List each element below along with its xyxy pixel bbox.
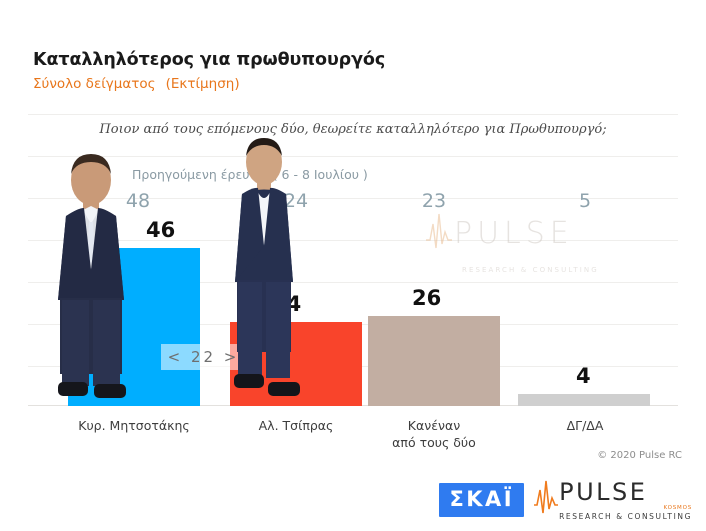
- poll-chart-card: Καταλληλότερος για πρωθυπουργός Σύνολο δ…: [0, 0, 706, 531]
- photo-mitsotakis: [36, 150, 146, 406]
- subtitle-sample: Σύνολο δείγματος: [33, 76, 156, 92]
- pulse-logo-text: PULSE: [559, 478, 647, 506]
- chart-subtitle: Σύνολο δείγματος(Εκτίμηση): [33, 76, 673, 92]
- pulse-tagline: RESEARCH & CONSULTING: [559, 513, 692, 521]
- bar-group-neither[interactable]: 26: [368, 316, 500, 406]
- skai-logo-text: ΣΚΑΪ: [449, 489, 514, 510]
- photo-tsipras: [214, 134, 314, 406]
- category-labels: Κυρ. Μητσοτάκης Αλ. Τσίπρας Κανέναν από …: [28, 418, 678, 458]
- bar-value-mitsotakis: 46: [146, 218, 175, 242]
- category-label-neither: Κανέναν από τους δύο: [392, 418, 476, 452]
- copyright-text: © 2020 Pulse RC: [597, 450, 682, 461]
- pulse-waveform-icon: [534, 478, 558, 522]
- page-title: Καταλληλότερος για πρωθυπουργός: [33, 50, 673, 71]
- skai-logo: ΣΚΑΪ: [439, 483, 524, 517]
- pulse-kosmos-text: KOSMOS: [559, 506, 692, 512]
- category-label-mitsotakis: Κυρ. Μητσοτάκης: [78, 418, 190, 435]
- pulse-logo: PULSE KOSMOS RESEARCH & CONSULTING: [534, 478, 692, 522]
- bar-value-dkna: 4: [576, 364, 591, 388]
- chart-header: Καταλληλότερος για πρωθυπουργός Σύνολο δ…: [33, 50, 673, 92]
- bar-group-dkna[interactable]: 4: [518, 394, 650, 406]
- category-label-tsipras: Αλ. Τσίπρας: [259, 418, 334, 435]
- footer-logos: ΣΚΑΪ PULSE KOSMOS RESEARCH & CONSULTING: [439, 478, 692, 522]
- bar-value-neither: 26: [412, 286, 441, 310]
- chart-plot-area: Ποιον από τους επόμενους δύο, θεωρείτε κ…: [28, 114, 678, 406]
- subtitle-method: (Εκτίμηση): [166, 76, 240, 92]
- bar-dkna[interactable]: [518, 394, 650, 406]
- category-label-dkna: ΔΓ/ΔΑ: [567, 418, 604, 435]
- bar-neither[interactable]: [368, 316, 500, 406]
